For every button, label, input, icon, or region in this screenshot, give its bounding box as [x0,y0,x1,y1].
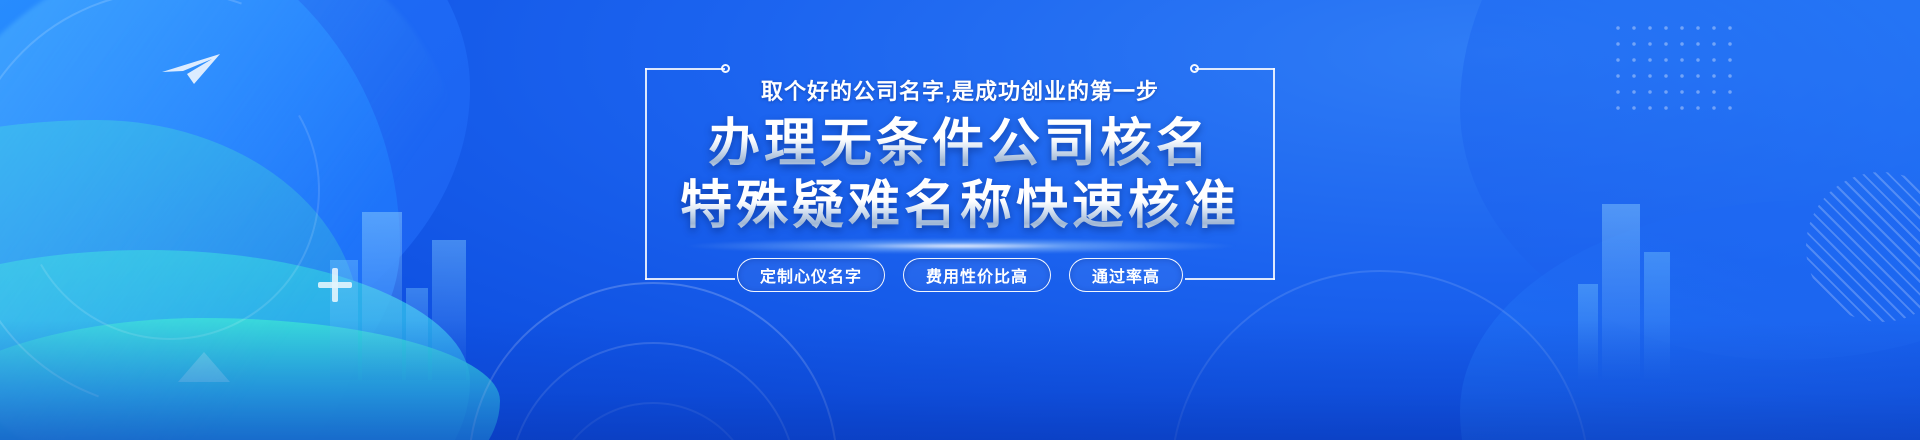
banner-headline: 办理无条件公司核名 特殊疑难名称快速核准 [0,113,1920,237]
feature-pill-high-pass-rate[interactable]: 通过率高 [1069,258,1183,292]
feature-pill-custom-name[interactable]: 定制心仪名字 [737,258,885,292]
headline-line-2: 特殊疑难名称快速核准 [0,175,1920,237]
frame-top-right-edge [1195,68,1275,70]
banner-subtitle: 取个好的公司名字,是成功创业的第一步 [0,74,1920,106]
feature-pill-cost-effective[interactable]: 费用性价比高 [903,258,1051,292]
headline-glow [680,238,1240,254]
banner-content: 取个好的公司名字,是成功创业的第一步 办理无条件公司核名 特殊疑难名称快速核准 … [0,0,1920,440]
frame-node-left-icon [721,64,730,73]
headline-line-1: 办理无条件公司核名 [0,113,1920,175]
feature-pill-group: 定制心仪名字 费用性价比高 通过率高 [0,258,1920,292]
frame-top-left-edge [645,68,725,70]
frame-node-right-icon [1190,64,1199,73]
promo-banner: 取个好的公司名字,是成功创业的第一步 办理无条件公司核名 特殊疑难名称快速核准 … [0,0,1920,440]
